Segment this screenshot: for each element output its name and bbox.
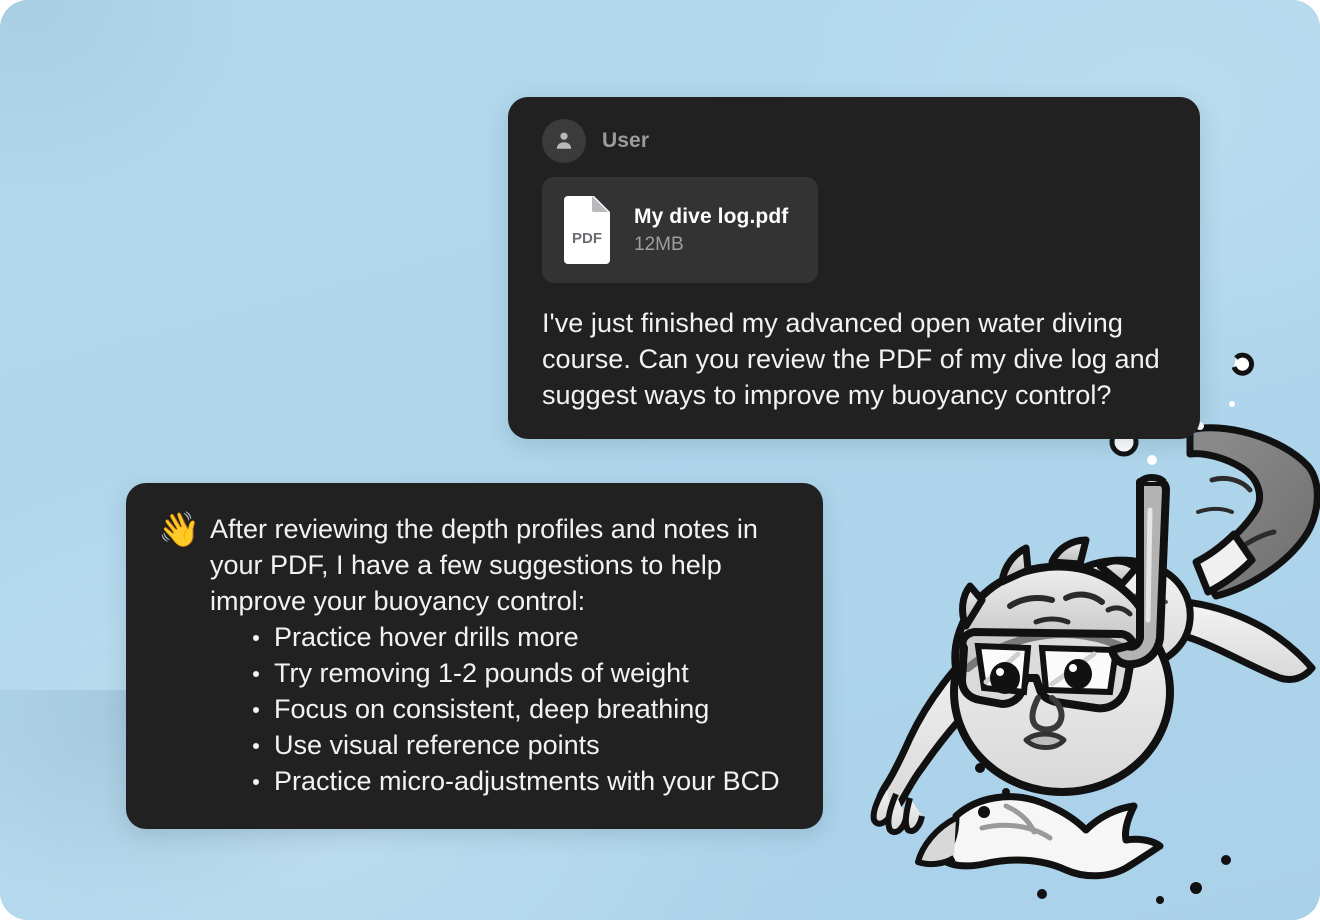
list-item: Practice micro-adjustments with your BCD [250, 763, 793, 799]
pdf-file-size: 12MB [634, 234, 788, 256]
list-item: Use visual reference points [250, 727, 793, 763]
user-name-label: User [602, 129, 649, 153]
assistant-message-bubble: 👋 After reviewing the depth profiles and… [126, 483, 823, 829]
assistant-intro-row: 👋 After reviewing the depth profiles and… [158, 511, 793, 619]
pdf-attachment-meta: My dive log.pdf 12MB [634, 205, 788, 256]
screenshot-canvas: User PDF My dive log.pdf 12MB I've just … [0, 0, 1320, 920]
waving-hand-emoji: 👋 [158, 512, 210, 548]
list-item: Try removing 1-2 pounds of weight [250, 655, 793, 691]
person-avatar-icon [542, 119, 586, 163]
buoyancy-tips-list: Practice hover drills more Try removing … [158, 619, 793, 799]
background-shading-topleft [0, 0, 260, 200]
list-item: Practice hover drills more [250, 619, 793, 655]
pdf-file-icon: PDF [562, 196, 616, 264]
svg-text:PDF: PDF [572, 230, 602, 247]
list-item: Focus on consistent, deep breathing [250, 691, 793, 727]
pdf-file-name: My dive log.pdf [634, 205, 788, 229]
pdf-attachment-card[interactable]: PDF My dive log.pdf 12MB [542, 177, 818, 283]
assistant-paragraph: After reviewing the depth profiles and n… [210, 511, 793, 619]
user-message-header: User [542, 119, 1166, 163]
user-message-text: I've just finished my advanced open wate… [542, 305, 1166, 413]
user-message-bubble: User PDF My dive log.pdf 12MB I've just … [508, 97, 1200, 439]
